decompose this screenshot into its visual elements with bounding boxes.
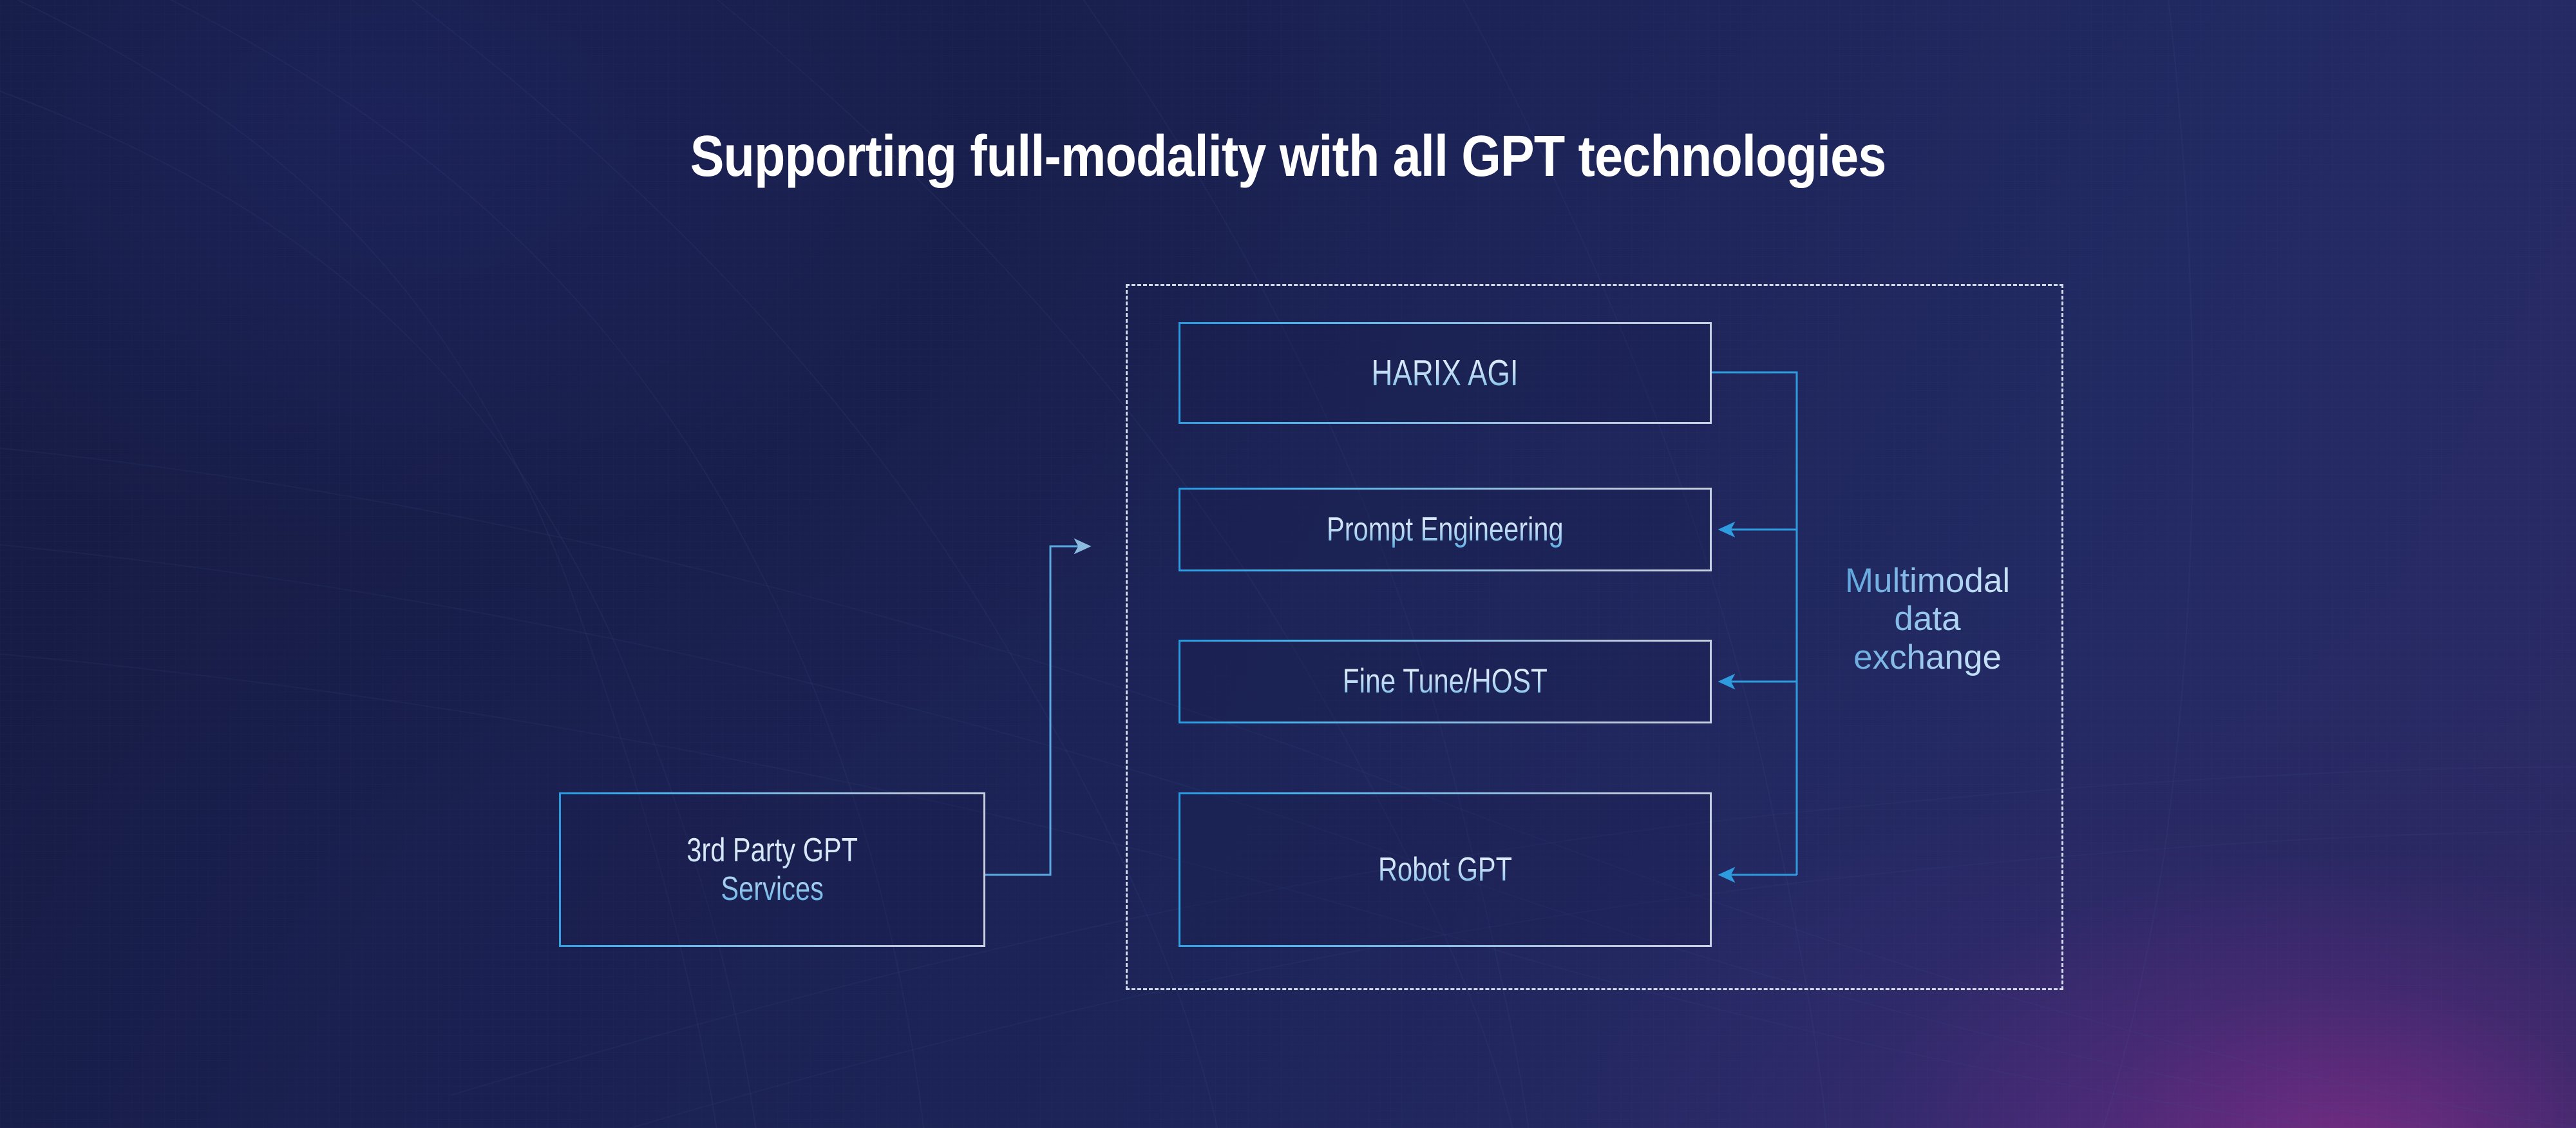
node-robot-gpt[interactable]: Robot GPT [1179, 792, 1712, 947]
third-party-line-1: 3rd Party GPT [687, 832, 858, 869]
node-third-party-gpt-services-label: 3rd Party GPT Services [687, 831, 858, 909]
node-harix-agi-label: HARIX AGI [1372, 352, 1519, 394]
multimodal-line-1: Multimodal [1845, 562, 2010, 600]
multimodal-line-3: exchange [1853, 638, 2002, 676]
node-fine-tune-host[interactable]: Fine Tune/HOST [1179, 640, 1712, 723]
node-robot-gpt-label: Robot GPT [1378, 850, 1512, 889]
page-title: Supporting full-modality with all GPT te… [155, 124, 2421, 190]
node-prompt-engineering[interactable]: Prompt Engineering [1179, 488, 1712, 571]
annotation-multimodal-data-exchange: Multimodal data exchange [1821, 562, 2034, 676]
node-third-party-gpt-services[interactable]: 3rd Party GPT Services [559, 792, 985, 947]
third-party-line-2: Services [721, 870, 824, 908]
node-prompt-engineering-label: Prompt Engineering [1327, 510, 1564, 549]
multimodal-line-2: data [1894, 600, 1960, 638]
node-fine-tune-host-label: Fine Tune/HOST [1343, 662, 1548, 701]
node-harix-agi[interactable]: HARIX AGI [1179, 322, 1712, 424]
